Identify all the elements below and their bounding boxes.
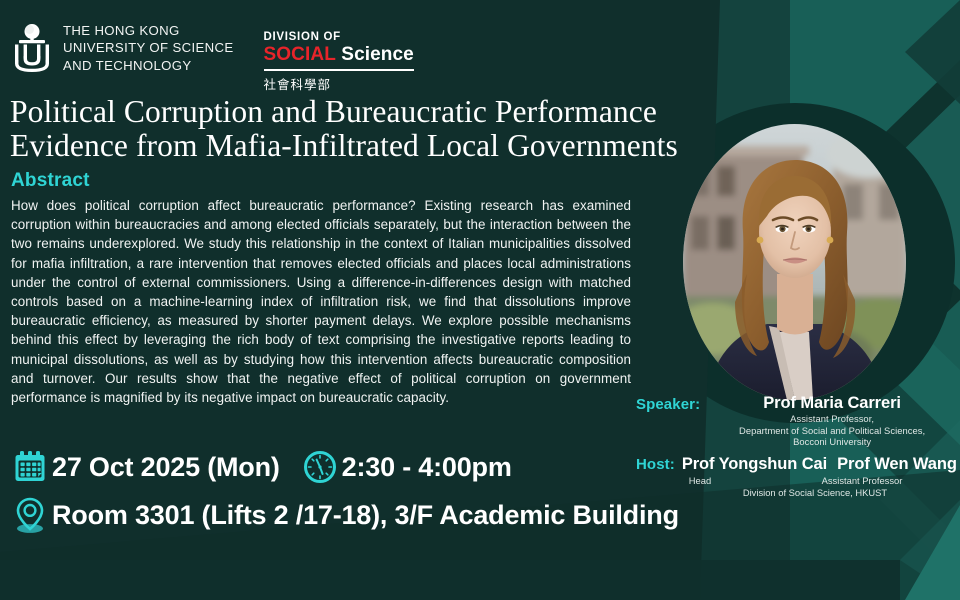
hkust-line-1: THE HONG KONG bbox=[63, 22, 234, 39]
host-division: Division of Social Science, HKUST bbox=[636, 487, 960, 498]
people-block: Speaker: Prof Maria Carreri Assistant Pr… bbox=[636, 394, 960, 498]
division-line-1: DIVISION OF bbox=[264, 31, 414, 44]
speaker-name: Prof Maria Carreri bbox=[763, 394, 901, 412]
speaker-organization: Bocconi University bbox=[704, 436, 960, 447]
host-label: Host: bbox=[636, 456, 682, 473]
logo-row: THE HONG KONG UNIVERSITY OF SCIENCE AND … bbox=[10, 22, 414, 93]
hkust-wordmark: THE HONG KONG UNIVERSITY OF SCIENCE AND … bbox=[63, 22, 234, 73]
division-chinese-name: 社會科學部 bbox=[264, 74, 414, 93]
division-social-word: SOCIAL bbox=[264, 44, 336, 65]
host-row: Host: Prof Yongshun Cai Prof Wen Wang bbox=[636, 455, 960, 474]
title-line-2: Evidence from Mafia-Infiltrated Local Go… bbox=[10, 129, 730, 163]
host-role-2: Assistant Professor bbox=[764, 475, 960, 486]
time-block: 2:30 - 4:00pm bbox=[298, 450, 512, 484]
hkust-logo: THE HONG KONG UNIVERSITY OF SCIENCE AND … bbox=[10, 22, 234, 74]
location-pin-icon bbox=[8, 495, 52, 535]
host-role-1: Head bbox=[636, 475, 764, 486]
event-venue: Room 3301 (Lifts 2 /17-18), 3/F Academic… bbox=[52, 500, 679, 531]
host-roles: Head Assistant Professor bbox=[636, 475, 960, 486]
date-row: 27 Oct 2025 (Mon) bbox=[8, 443, 679, 491]
speaker-portrait bbox=[683, 124, 906, 400]
speaker-label: Speaker: bbox=[636, 394, 700, 413]
host-name-2: Prof Wen Wang bbox=[837, 455, 957, 474]
hkust-shield-icon bbox=[10, 22, 54, 74]
host-names: Prof Yongshun Cai Prof Wen Wang bbox=[682, 455, 960, 474]
hkust-line-2: UNIVERSITY OF SCIENCE bbox=[63, 39, 234, 56]
division-line-2: SOCIAL Science bbox=[264, 44, 414, 70]
page-title: Political Corruption and Bureaucratic Pe… bbox=[10, 95, 730, 163]
event-time: 2:30 - 4:00pm bbox=[342, 452, 512, 483]
abstract-body: How does political corruption affect bur… bbox=[11, 196, 631, 407]
speaker-department: Department of Social and Political Scien… bbox=[704, 425, 960, 436]
speaker-row: Speaker: Prof Maria Carreri Assistant Pr… bbox=[636, 394, 960, 448]
clock-icon bbox=[298, 450, 342, 484]
calendar-icon bbox=[8, 449, 52, 485]
venue-row: Room 3301 (Lifts 2 /17-18), 3/F Academic… bbox=[8, 491, 679, 539]
division-science-word: Science bbox=[341, 44, 414, 65]
title-line-1: Political Corruption and Bureaucratic Pe… bbox=[10, 95, 730, 129]
hkust-line-3: AND TECHNOLOGY bbox=[63, 57, 234, 74]
host-name-1: Prof Yongshun Cai bbox=[682, 455, 827, 474]
abstract-heading: Abstract bbox=[11, 170, 90, 192]
speaker-info: Prof Maria Carreri Assistant Professor, … bbox=[704, 394, 960, 448]
division-of-social-science-logo: DIVISION OF SOCIAL Science 社會科學部 bbox=[264, 22, 414, 93]
speaker-title: Assistant Professor, bbox=[704, 413, 960, 424]
event-details: 27 Oct 2025 (Mon) bbox=[8, 443, 679, 539]
event-date: 27 Oct 2025 (Mon) bbox=[52, 452, 280, 483]
seminar-poster: THE HONG KONG UNIVERSITY OF SCIENCE AND … bbox=[0, 0, 960, 600]
